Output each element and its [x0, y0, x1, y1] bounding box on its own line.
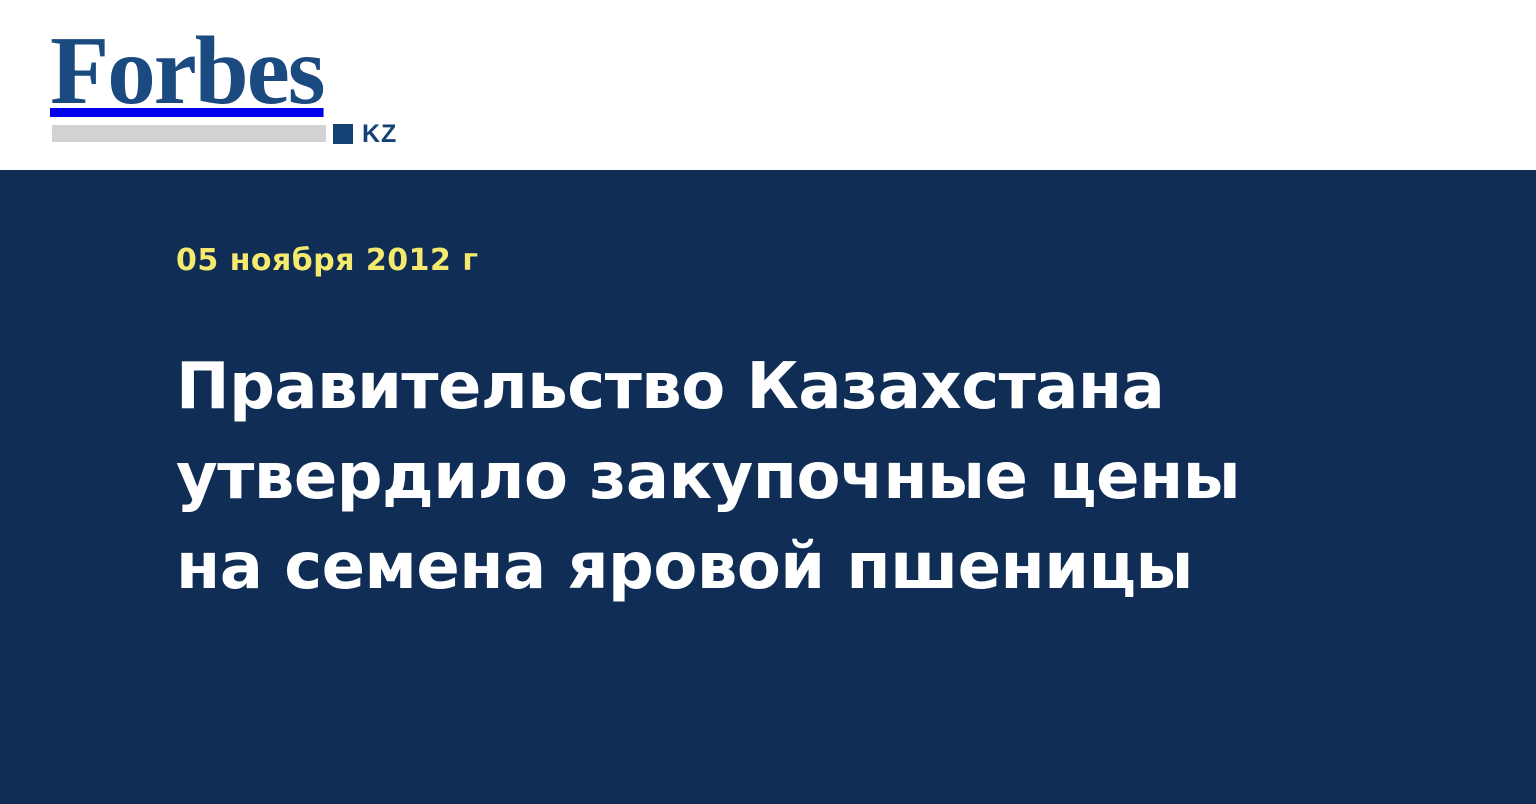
forbes-wordmark: Forbes [50, 22, 410, 120]
article-hero-page: Forbes KZ 05 ноября 2012 г Правительство… [0, 0, 1536, 804]
article-publish-date: 05 ноября 2012 г [176, 244, 1376, 278]
article-headline: Правительство Казахстана утвердило закуп… [176, 342, 1306, 612]
logo-locale-code: KZ [362, 122, 397, 147]
site-masthead: Forbes KZ [0, 0, 1536, 170]
logo-rule-divider [52, 125, 326, 142]
navy-square-icon [333, 124, 353, 144]
article-hero-content: 05 ноября 2012 г Правительство Казахстан… [176, 244, 1376, 612]
article-hero-band: 05 ноября 2012 г Правительство Казахстан… [0, 170, 1536, 804]
forbes-kz-logo[interactable]: Forbes KZ [50, 22, 410, 148]
